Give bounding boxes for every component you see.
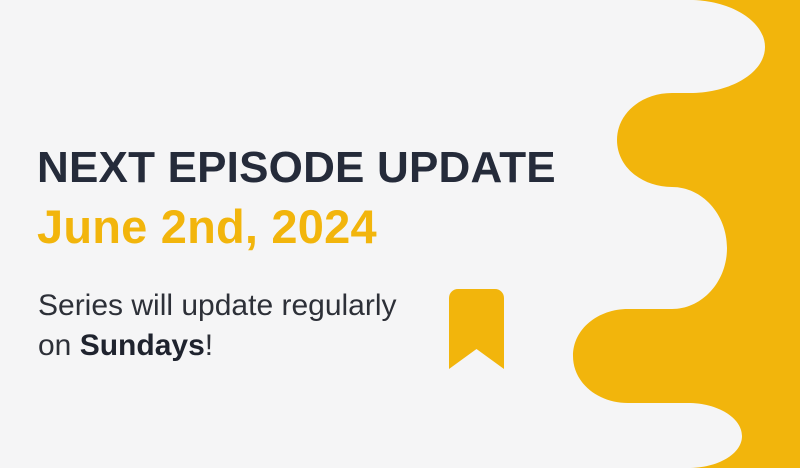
update-schedule-text: Series will update regularly on Sundays! [38,286,438,366]
banner-content: NEXT EPISODE UPDATE June 2nd, 2024 Serie… [37,0,577,468]
page-title: NEXT EPISODE UPDATE [37,146,556,190]
subtext-trail: ! [205,329,213,362]
bookmark-icon [449,289,504,369]
subtext-day: Sundays [80,329,205,362]
next-episode-update-banner: NEXT EPISODE UPDATE June 2nd, 2024 Serie… [0,0,800,468]
wave-shape [573,0,800,468]
episode-date: June 2nd, 2024 [37,203,377,250]
